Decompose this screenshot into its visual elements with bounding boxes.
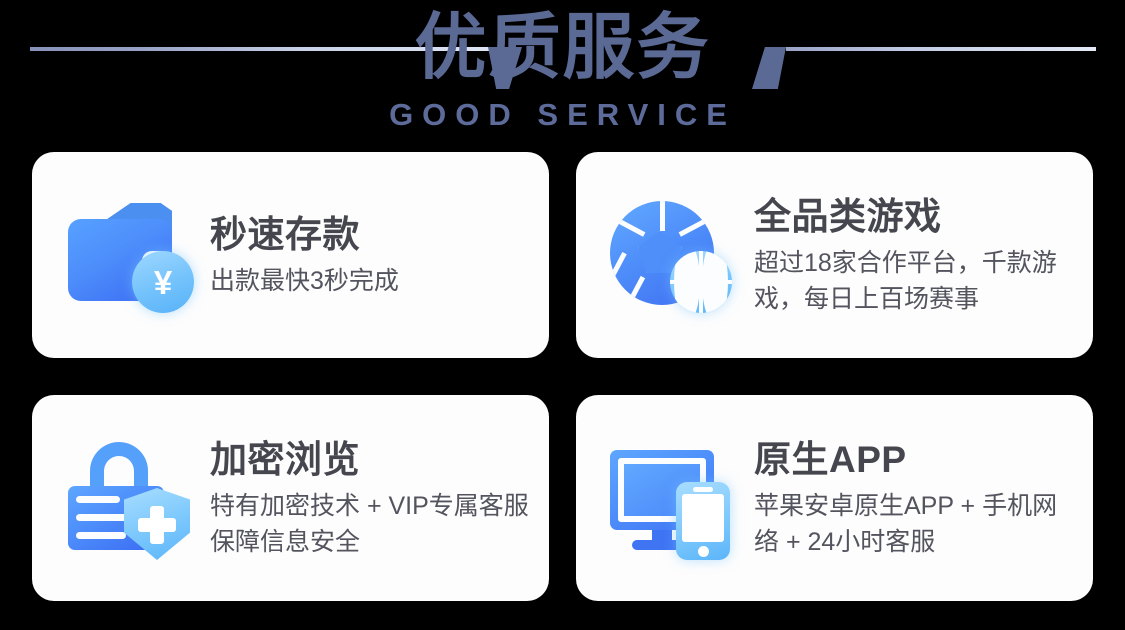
basketball-line xyxy=(674,251,700,313)
card-text-block: 秒速存款 出款最快3秒完成 xyxy=(210,212,413,299)
soccer-seam xyxy=(617,218,646,236)
lock-shield-icon xyxy=(62,432,194,564)
feature-card-games[interactable]: 全品类游戏 超过18家合作平台，千款游戏，每日上百场赛事 xyxy=(576,152,1093,358)
card-description: 特有加密技术 + VIP专属客服保障信息安全 xyxy=(210,488,534,560)
soccer-seam xyxy=(610,252,627,279)
card-description: 苹果安卓原生APP + 手机网络 + 24小时客服 xyxy=(754,488,1078,560)
wallet-yen-icon: ¥ xyxy=(62,189,194,321)
card-description: 超过18家合作平台，千款游戏，每日上百场赛事 xyxy=(754,245,1078,317)
card-text-block: 全品类游戏 超过18家合作平台，千款游戏，每日上百场赛事 xyxy=(754,194,1092,317)
basketball-line xyxy=(702,251,728,313)
card-title: 全品类游戏 xyxy=(754,194,1078,240)
soccer-seam xyxy=(679,218,708,236)
lock-slot xyxy=(76,496,120,503)
card-title: 加密浏览 xyxy=(210,437,534,483)
feature-card-encryption[interactable]: 加密浏览 特有加密技术 + VIP专属客服保障信息安全 xyxy=(32,395,549,601)
phone-speaker-shape xyxy=(693,487,713,492)
card-text-block: 加密浏览 特有加密技术 + VIP专属客服保障信息安全 xyxy=(210,437,548,560)
poster-root: 优质服务 GOOD SERVICE ¥ 秒速存款 出款最快3秒完成 xyxy=(0,0,1125,630)
card-title: 原生APP xyxy=(754,437,1078,483)
card-title: 秒速存款 xyxy=(210,212,399,258)
monitor-phone-icon xyxy=(606,432,738,564)
feature-card-grid: ¥ 秒速存款 出款最快3秒完成 xyxy=(32,152,1093,601)
cross-icon xyxy=(138,518,176,532)
feature-card-deposit[interactable]: ¥ 秒速存款 出款最快3秒完成 xyxy=(32,152,549,358)
feature-card-native-app[interactable]: 原生APP 苹果安卓原生APP + 手机网络 + 24小时客服 xyxy=(576,395,1093,601)
phone-home-button-shape xyxy=(698,546,709,557)
yen-coin-icon: ¥ xyxy=(132,251,194,313)
header: 优质服务 GOOD SERVICE xyxy=(0,0,1125,145)
soccer-basketball-icon xyxy=(606,189,738,321)
soccer-seam xyxy=(660,201,665,231)
page-subtitle: GOOD SERVICE xyxy=(0,97,1125,133)
lock-slot xyxy=(76,532,126,539)
card-text-block: 原生APP 苹果安卓原生APP + 手机网络 + 24小时客服 xyxy=(754,437,1092,560)
phone-screen-shape xyxy=(682,494,724,542)
page-title: 优质服务 xyxy=(0,6,1125,90)
card-description: 出款最快3秒完成 xyxy=(210,263,399,299)
basketball-icon xyxy=(670,251,732,313)
soccer-seam xyxy=(624,276,645,305)
